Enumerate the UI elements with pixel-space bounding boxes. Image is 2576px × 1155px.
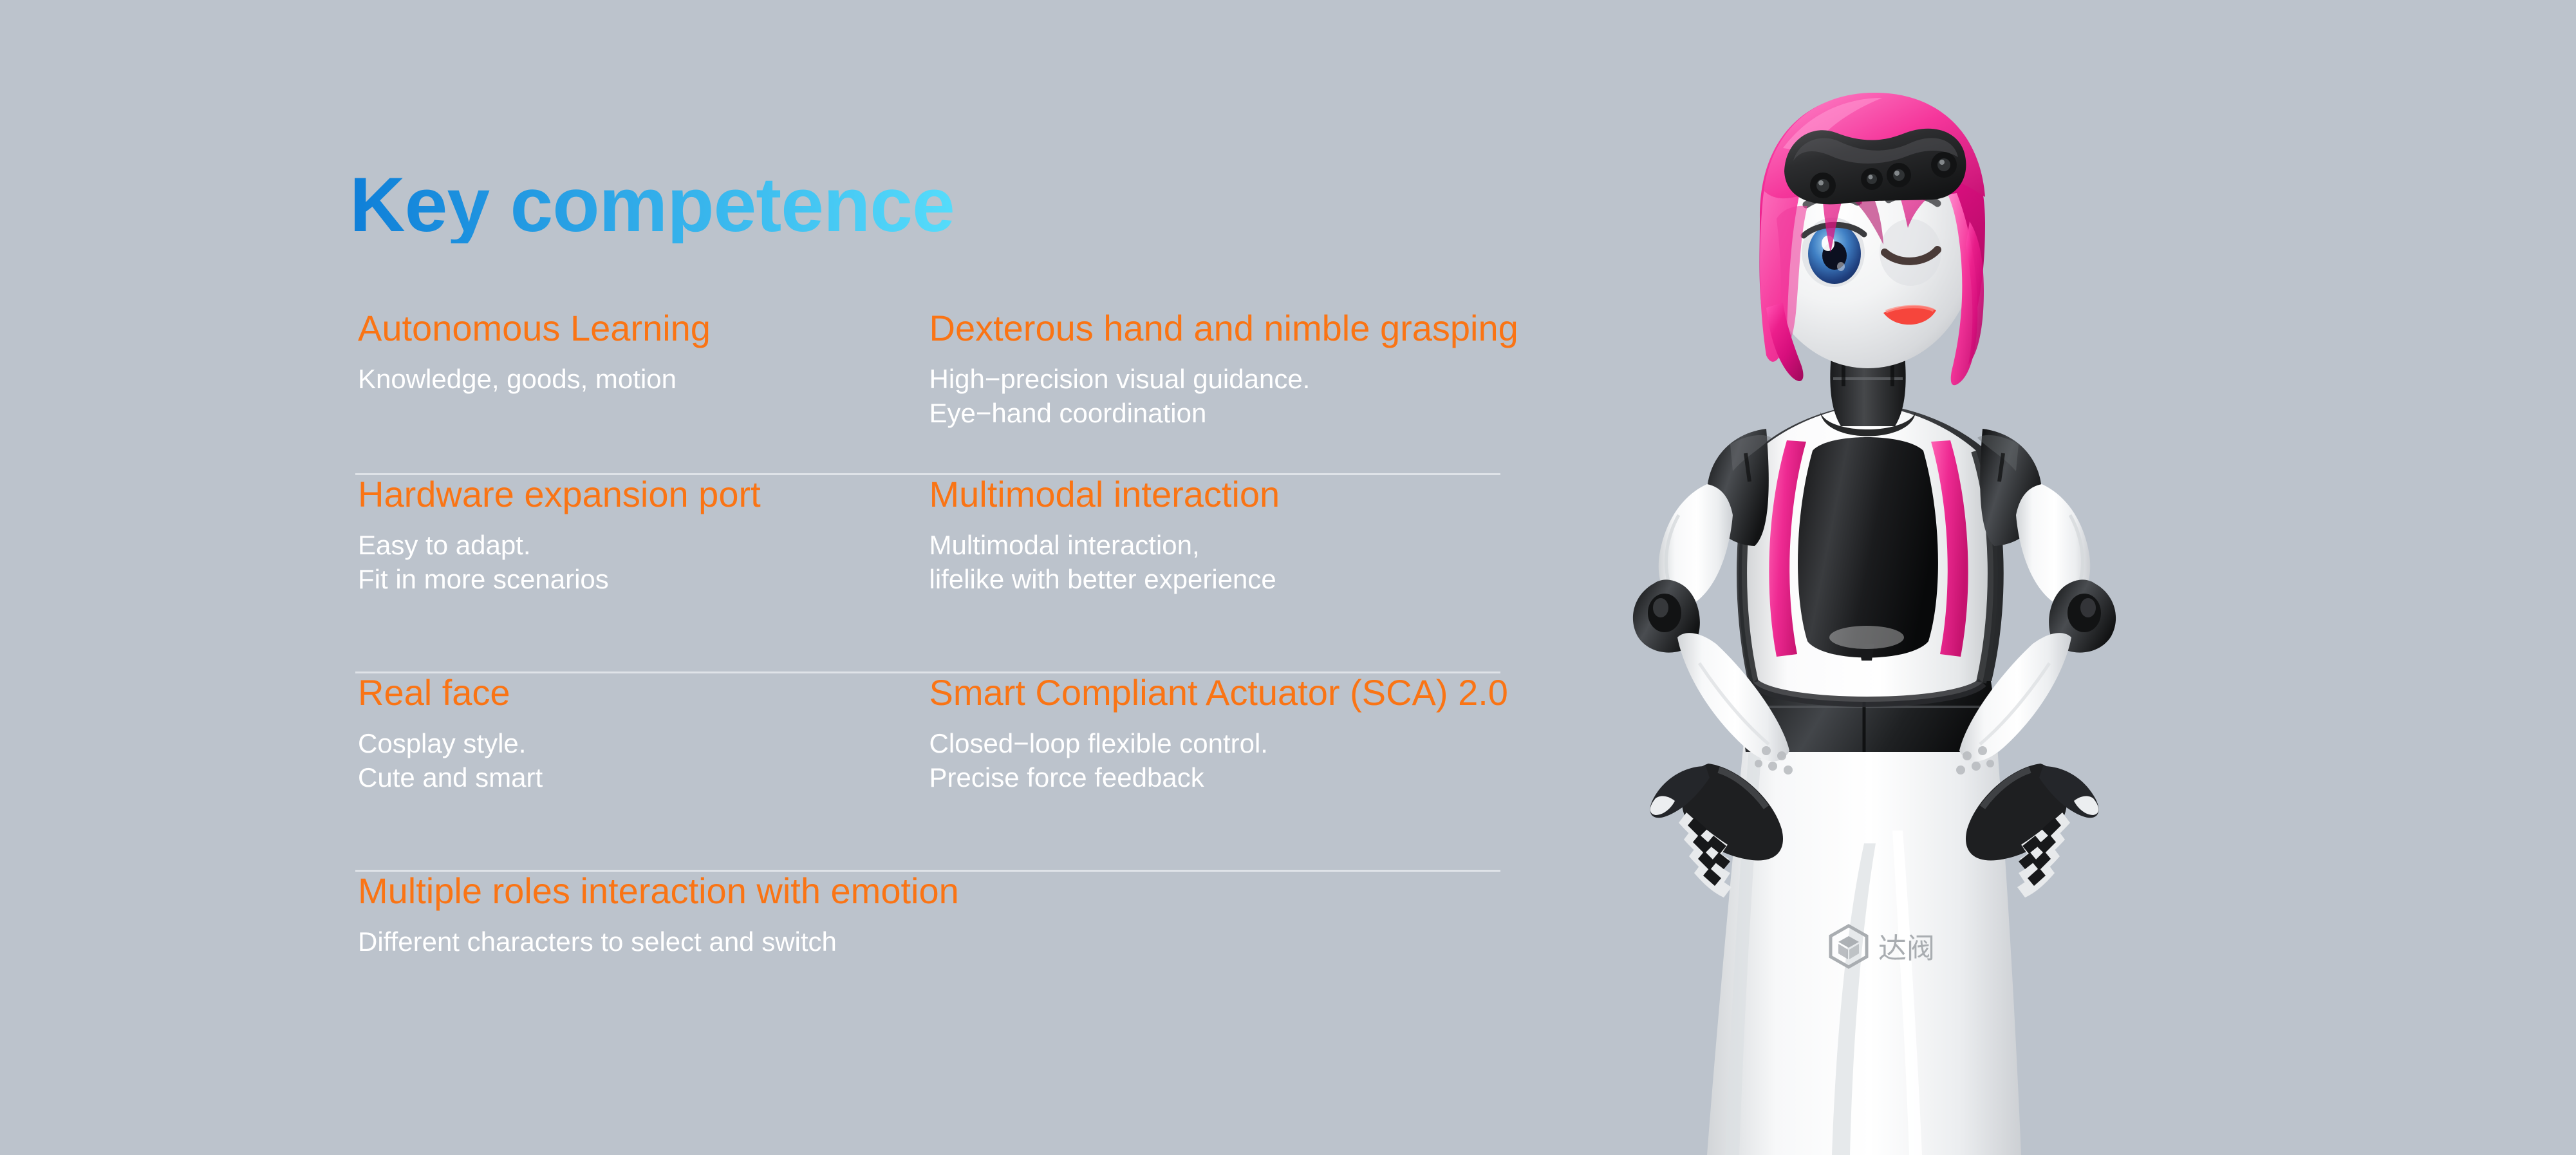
robot-eye-wink [1880, 219, 1941, 286]
robot-brand-logo-text: 达阀 [1878, 932, 1935, 965]
feature-title: Autonomous Learning [358, 309, 904, 347]
feature-title: Hardware expansion port [358, 475, 904, 513]
feature-description: Easy to adapt. Fit in more scenarios [358, 529, 904, 597]
feature-item-real-face[interactable]: Real face Cosplay style. Cute and smart [358, 673, 929, 872]
feature-item-dexterous-hand[interactable]: Dexterous hand and nimble grasping High−… [929, 309, 1501, 475]
feature-description: Cosplay style. Cute and smart [358, 727, 904, 795]
feature-title: Real face [358, 673, 904, 711]
feature-description: Different characters to select and switc… [358, 925, 1475, 959]
feature-description: High−precision visual guidance. Eye−hand… [929, 362, 1475, 431]
feature-description: Multimodal interaction, lifelike with be… [929, 529, 1475, 597]
feature-row: Multiple roles interaction with emotion … [358, 872, 1500, 1000]
feature-row: Hardware expansion port Easy to adapt. F… [358, 475, 1500, 673]
feature-item-hardware-expansion-port[interactable]: Hardware expansion port Easy to adapt. F… [358, 475, 929, 673]
feature-row: Autonomous Learning Knowledge, goods, mo… [358, 309, 1500, 475]
page-title: Key competence [350, 166, 955, 243]
feature-item-autonomous-learning[interactable]: Autonomous Learning Knowledge, goods, mo… [358, 309, 929, 475]
feature-item-smart-compliant-actuator[interactable]: Smart Compliant Actuator (SCA) 2.0 Close… [929, 673, 1501, 872]
robot-illustration: 达阀 [1506, 0, 2227, 1155]
feature-title: Multimodal interaction [929, 475, 1475, 513]
feature-title: Multiple roles interaction with emotion [358, 872, 1475, 910]
feature-title: Smart Compliant Actuator (SCA) 2.0 [929, 673, 1475, 711]
feature-description: Knowledge, goods, motion [358, 362, 904, 397]
feature-item-multiple-roles-interaction[interactable]: Multiple roles interaction with emotion … [358, 872, 1500, 1000]
feature-description: Closed−loop flexible control. Precise fo… [929, 727, 1475, 795]
feature-grid: Autonomous Learning Knowledge, goods, mo… [358, 309, 1500, 1000]
feature-title: Dexterous hand and nimble grasping [929, 309, 1475, 347]
slide-canvas: Key competence Autonomous Learning Knowl… [0, 0, 2576, 1155]
feature-item-multimodal-interaction[interactable]: Multimodal interaction Multimodal intera… [929, 475, 1501, 673]
robot-head [1759, 93, 1985, 385]
feature-row: Real face Cosplay style. Cute and smart … [358, 673, 1500, 872]
